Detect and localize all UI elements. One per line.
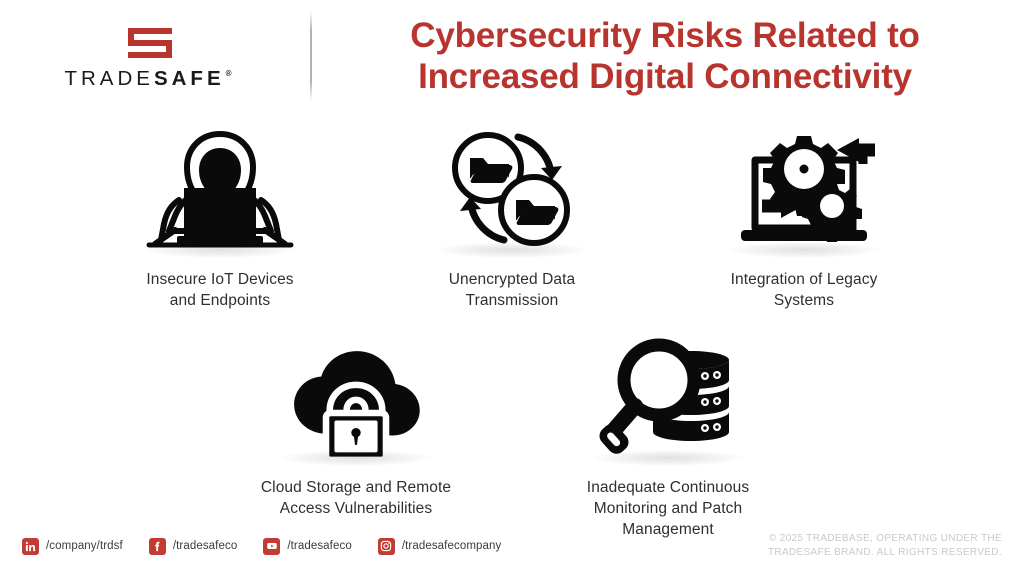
folder-sync-arrows-icon: [437, 112, 587, 252]
risk-label-line-2: and Endpoints: [146, 291, 293, 312]
page-title-line-1: Cybersecurity Risks Related to: [346, 15, 984, 56]
cloud-padlock-icon: [281, 320, 431, 460]
risk-label-line-1: Inadequate Continuous: [587, 478, 749, 499]
wordmark-trade: TRADE: [64, 69, 153, 90]
icon-shadow: [592, 450, 744, 466]
instagram-icon: [378, 538, 395, 555]
risk-grid: Insecure IoT Devices and Endpoints: [0, 112, 1024, 541]
copyright-line-1: © 2025 TRADEBASE, OPERATING UNDER THE: [768, 532, 1002, 547]
risk-row-2: Cloud Storage and Remote Access Vulnerab…: [0, 320, 1024, 541]
social-link-facebook[interactable]: /tradesafeco: [149, 538, 238, 555]
risk-row-1: Insecure IoT Devices and Endpoints: [0, 112, 1024, 312]
risk-card-monitoring-patching[interactable]: Inadequate Continuous Monitoring and Pat…: [532, 320, 804, 541]
risk-label-line-2: Transmission: [449, 291, 576, 312]
risk-label-line-2: Systems: [731, 291, 878, 312]
page-title-line-2: Increased Digital Connectivity: [346, 56, 984, 97]
icon-shadow: [144, 242, 296, 258]
social-handle: /tradesafeco: [173, 540, 238, 552]
icon-shadow: [280, 450, 432, 466]
magnifier-database-icon: [593, 320, 743, 460]
brand-logo: TRADESAFE®: [0, 0, 300, 112]
facebook-icon: [149, 538, 166, 555]
youtube-icon: [263, 538, 280, 555]
risk-label-line-2: Monitoring and Patch: [587, 499, 749, 520]
wordmark-safe: SAFE: [154, 69, 225, 90]
social-link-instagram[interactable]: /tradesafecompany: [378, 538, 502, 555]
hooded-hacker-laptop-icon: [145, 112, 295, 252]
social-handle: /company/trdsf: [46, 540, 123, 552]
risk-card-cloud-storage[interactable]: Cloud Storage and Remote Access Vulnerab…: [220, 320, 492, 520]
copyright-notice: © 2025 TRADEBASE, OPERATING UNDER THE TR…: [768, 532, 1002, 561]
risk-card-legacy-systems[interactable]: Integration of Legacy Systems: [686, 112, 922, 312]
linkedin-icon: [22, 538, 39, 555]
risk-label-line-1: Integration of Legacy: [731, 270, 878, 291]
brand-wordmark: TRADESAFE®: [64, 69, 235, 90]
risk-card-label: Integration of Legacy Systems: [731, 270, 878, 312]
header: TRADESAFE® Cybersecurity Risks Related t…: [0, 0, 1024, 112]
risk-card-label: Insecure IoT Devices and Endpoints: [146, 270, 293, 312]
social-link-linkedin[interactable]: /company/trdsf: [22, 538, 123, 555]
copyright-line-2: TRADESAFE BRAND. ALL RIGHTS RESERVED.: [768, 546, 1002, 561]
infographic-page: TRADESAFE® Cybersecurity Risks Related t…: [0, 0, 1024, 569]
social-links: /company/trdsf /tradesafeco /trades: [22, 538, 501, 555]
risk-card-unencrypted-data[interactable]: Unencrypted Data Transmission: [394, 112, 630, 312]
risk-label-line-1: Cloud Storage and Remote: [261, 478, 451, 499]
icon-shadow: [436, 242, 588, 258]
registered-mark: ®: [226, 70, 236, 78]
tradesafe-s-mark-icon: [128, 28, 172, 58]
social-handle: /tradesafecompany: [402, 540, 502, 552]
risk-label-line-1: Insecure IoT Devices: [146, 270, 293, 291]
risk-card-label: Cloud Storage and Remote Access Vulnerab…: [261, 478, 451, 520]
page-title: Cybersecurity Risks Related to Increased…: [312, 15, 1024, 98]
risk-label-line-2: Access Vulnerabilities: [261, 499, 451, 520]
risk-card-label: Unencrypted Data Transmission: [449, 270, 576, 312]
footer: /company/trdsf /tradesafeco /trades: [0, 523, 1024, 569]
risk-label-line-1: Unencrypted Data: [449, 270, 576, 291]
icon-shadow: [728, 242, 880, 258]
social-handle: /tradesafeco: [287, 540, 352, 552]
social-link-youtube[interactable]: /tradesafeco: [263, 538, 352, 555]
risk-card-insecure-iot[interactable]: Insecure IoT Devices and Endpoints: [102, 112, 338, 312]
laptop-gears-arrows-icon: [729, 112, 879, 252]
